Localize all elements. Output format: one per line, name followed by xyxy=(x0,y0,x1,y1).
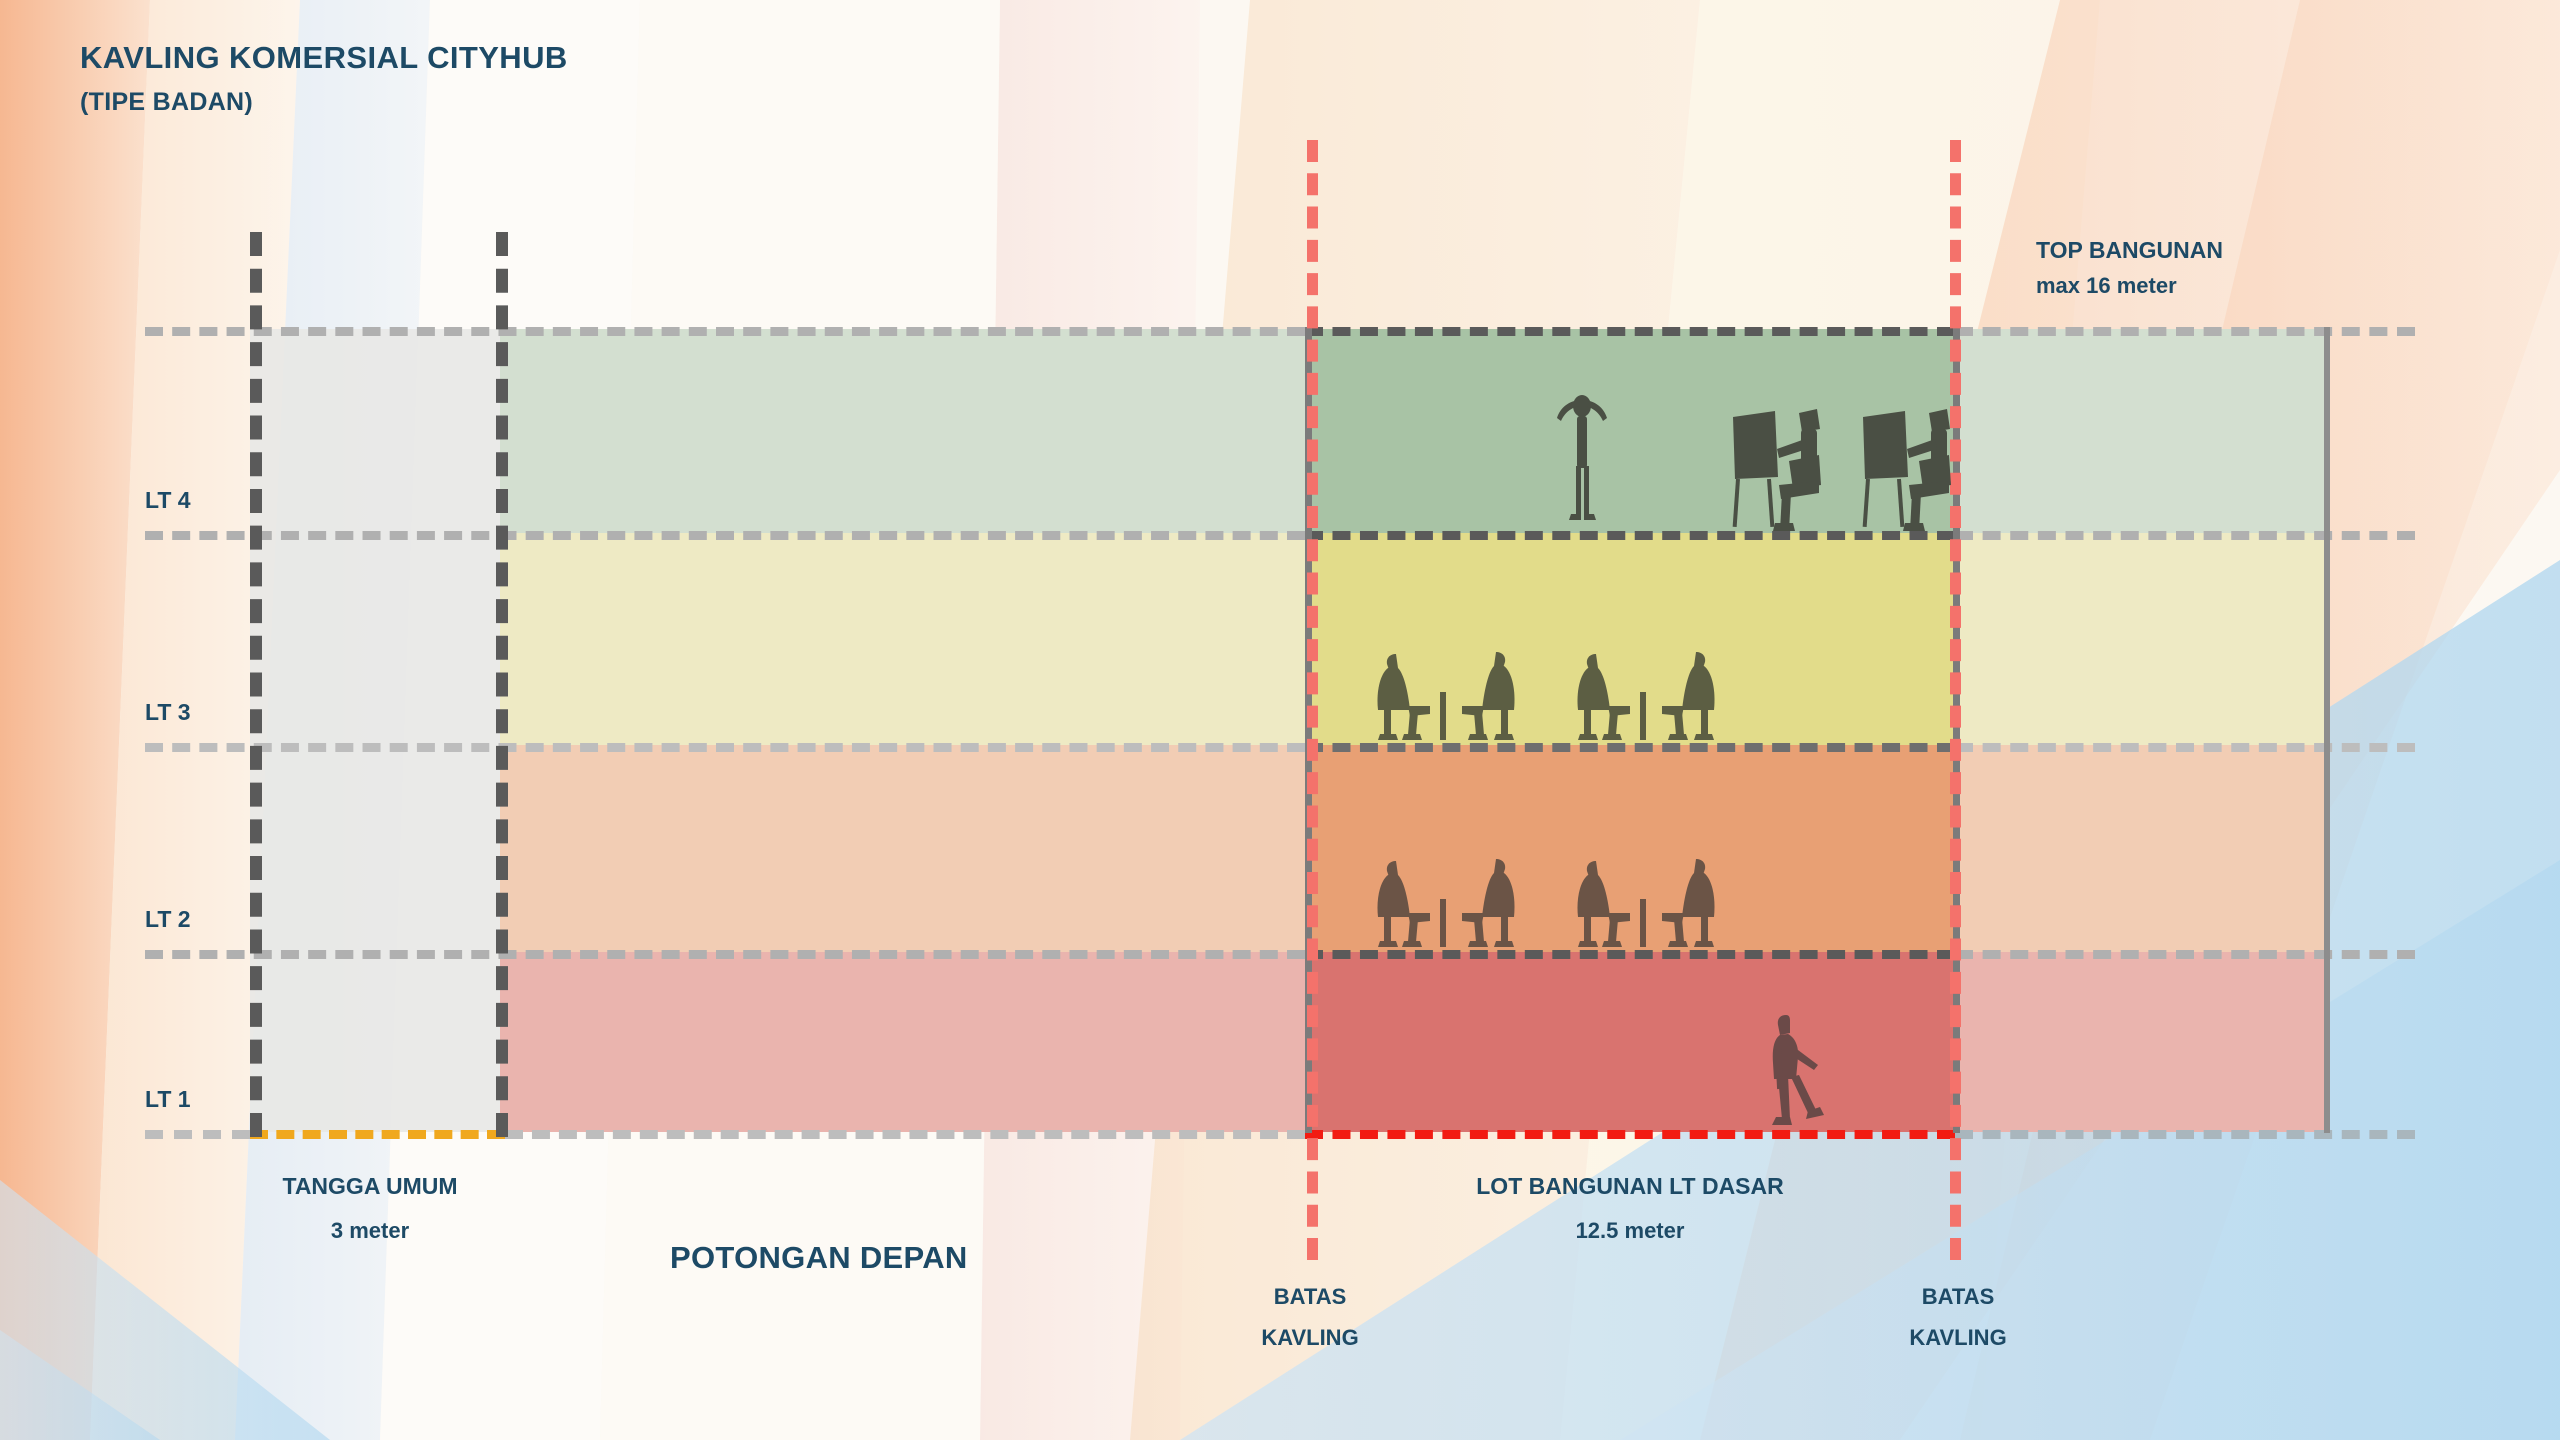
page-title: KAVLING KOMERSIAL CITYHUB xyxy=(80,40,568,76)
top-bangunan-label: TOP BANGUNAN xyxy=(2036,237,2223,264)
stair-boundary-left xyxy=(250,232,262,1137)
floor-band-lt1-inner xyxy=(1305,952,1955,1132)
building-extent-right xyxy=(2324,327,2330,1133)
floor-label-lt2: LT 2 xyxy=(145,906,191,933)
person-at-easel-figure-1 xyxy=(1727,405,1837,533)
floor-label-lt4: LT 4 xyxy=(145,487,191,514)
walking-person-figure xyxy=(1758,1013,1828,1131)
guide-line-roof-right xyxy=(1955,327,2415,336)
tangga-umum-value: 3 meter xyxy=(331,1218,409,1244)
batas-kavling-line-right xyxy=(1950,140,1961,1260)
guide-line-lt3-right xyxy=(1955,743,2415,752)
guide-line-lt2-right xyxy=(1955,950,2415,959)
top-bangunan-value: max 16 meter xyxy=(2036,273,2177,299)
lot-bangunan-label: LOT BANGUNAN LT DASAR xyxy=(1476,1173,1784,1200)
tangga-umum-label: TANGGA UMUM xyxy=(282,1173,457,1200)
guide-line-lt3-left xyxy=(145,743,1305,752)
batas-kavling-right-line1: BATAS xyxy=(1922,1284,1995,1310)
floor-label-lt3: LT 3 xyxy=(145,699,191,726)
lot-bangunan-value: 12.5 meter xyxy=(1576,1218,1685,1244)
batas-kavling-left-line1: BATAS xyxy=(1274,1284,1347,1310)
guide-line-ground-right xyxy=(1955,1130,2415,1139)
guide-line-ground-stair xyxy=(250,1130,505,1139)
guide-line-ground-far-left xyxy=(145,1130,250,1139)
floor-label-lt1: LT 1 xyxy=(145,1086,191,1113)
seated-group-lt3-b xyxy=(1572,648,1732,744)
section-diagram: KAVLING KOMERSIAL CITYHUB (TIPE BADAN) L… xyxy=(0,0,2560,1440)
guide-line-roof-left xyxy=(145,327,1305,336)
guide-line-lt4-left xyxy=(145,531,1305,540)
section-view-title: POTONGAN DEPAN xyxy=(670,1240,968,1276)
batas-kavling-left-line2: KAVLING xyxy=(1261,1325,1358,1351)
page-subtitle: (TIPE BADAN) xyxy=(80,88,253,117)
seated-group-lt2-b xyxy=(1572,855,1732,951)
stair-zone-fill xyxy=(250,329,500,1132)
guide-line-ground-inner xyxy=(1305,1130,1955,1139)
seated-group-lt3-a xyxy=(1372,648,1532,744)
guide-line-lt2-inner xyxy=(1305,950,1955,959)
batas-kavling-line-left xyxy=(1307,140,1318,1260)
guide-line-lt2-left xyxy=(145,950,1305,959)
guide-line-roof-inner xyxy=(1305,327,1955,336)
batas-kavling-right-line2: KAVLING xyxy=(1909,1325,2006,1351)
standing-person-figure xyxy=(1547,392,1617,532)
guide-line-ground-left xyxy=(505,1130,1305,1139)
stair-boundary-right xyxy=(496,232,508,1137)
seated-group-lt2-a xyxy=(1372,855,1532,951)
guide-line-lt4-right xyxy=(1955,531,2415,540)
person-at-easel-figure-2 xyxy=(1857,405,1967,533)
guide-line-lt3-inner xyxy=(1305,743,1955,752)
